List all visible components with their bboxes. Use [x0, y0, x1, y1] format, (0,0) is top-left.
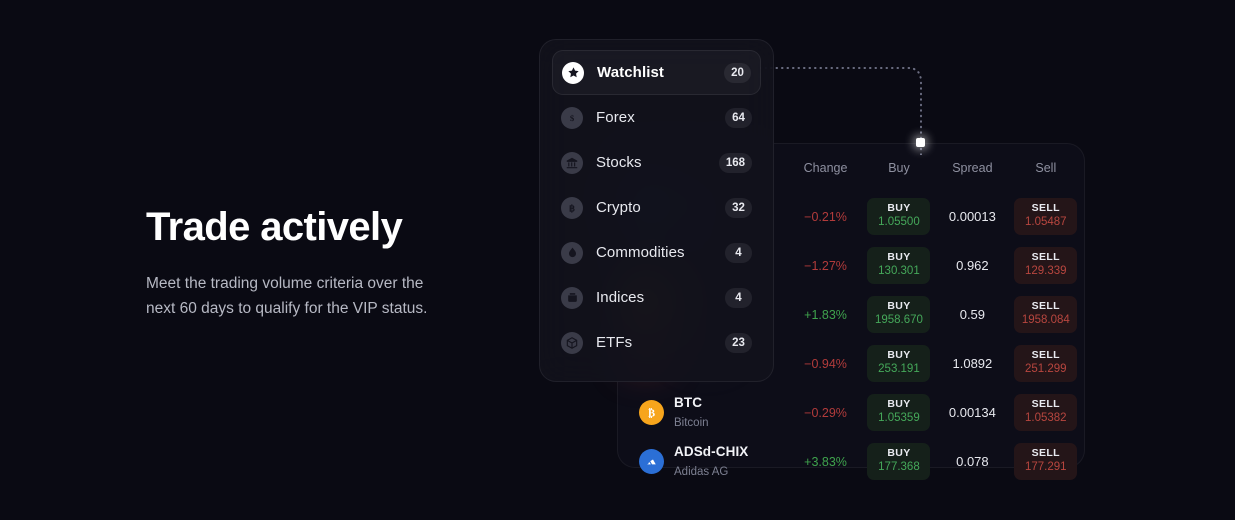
buy-button[interactable]: BUY253.191 [867, 345, 930, 382]
sidebar-item-etfs[interactable]: ETFs23 [552, 320, 761, 365]
sidebar-item-count: 168 [719, 153, 752, 173]
dollar-icon: $ [561, 107, 583, 129]
sell-price: 1958.084 [1014, 314, 1077, 327]
sidebar-item-label: Crypto [596, 199, 725, 216]
buy-cell[interactable]: BUY177.368 [861, 443, 937, 480]
sell-button[interactable]: SELL129.339 [1014, 247, 1077, 284]
change-value: +1.83% [790, 308, 860, 322]
sell-label: SELL [1014, 448, 1077, 460]
bank-icon [561, 152, 583, 174]
sidebar-item-count: 32 [725, 198, 752, 218]
buy-label: BUY [867, 350, 930, 362]
column-header-buy: Buy [861, 161, 937, 175]
buy-label: BUY [867, 399, 930, 411]
sidebar-item-label: Stocks [596, 154, 719, 171]
column-header-sell: Sell [1008, 161, 1084, 175]
buy-button[interactable]: BUY1958.670 [867, 296, 930, 333]
page-title: Trade actively [146, 205, 476, 249]
buy-label: BUY [867, 448, 930, 460]
buy-button[interactable]: BUY1.05500 [867, 198, 930, 235]
screenshot-root: Trade actively Meet the trading volume c… [0, 0, 1235, 520]
sell-price: 251.299 [1014, 363, 1077, 376]
buy-price: 1.05359 [867, 412, 930, 425]
spread-value: 0.962 [937, 258, 1007, 273]
buy-label: BUY [867, 252, 930, 264]
table-row[interactable]: ADSd-CHIXAdidas AG+3.83%BUY177.3680.078S… [618, 437, 1084, 486]
instrument-cell: ₿BTCBitcoin [618, 394, 790, 432]
sidebar-item-count: 23 [725, 333, 752, 353]
sell-cell[interactable]: SELL251.299 [1008, 345, 1084, 382]
sidebar-item-label: Indices [596, 289, 725, 306]
change-value: −0.21% [790, 210, 860, 224]
bitcoin-icon: ฿ [561, 197, 583, 219]
sell-price: 177.291 [1014, 461, 1077, 474]
connector-endpoint-dot [916, 138, 925, 147]
sidebar-item-label: Forex [596, 109, 725, 126]
instrument-symbol: BTC [674, 395, 702, 410]
spread-value: 1.0892 [937, 356, 1007, 371]
sell-cell[interactable]: SELL177.291 [1008, 443, 1084, 480]
column-header-change: Change [790, 161, 860, 175]
droplet-icon [561, 242, 583, 264]
sell-button[interactable]: SELL1958.084 [1014, 296, 1077, 333]
sidebar-item-watchlist[interactable]: Watchlist20 [552, 50, 761, 95]
spread-value: 0.59 [937, 307, 1007, 322]
buy-cell[interactable]: BUY1.05359 [861, 394, 937, 431]
svg-text:$: $ [570, 113, 575, 123]
sell-button[interactable]: SELL251.299 [1014, 345, 1077, 382]
sidebar-item-count: 64 [725, 108, 752, 128]
spread-value: 0.00134 [937, 405, 1007, 420]
table-row[interactable]: ₿BTCBitcoin−0.29%BUY1.053590.00134SELL1.… [618, 388, 1084, 437]
box-icon [561, 287, 583, 309]
sidebar-item-label: ETFs [596, 334, 725, 351]
adidas-logo-icon [639, 449, 664, 474]
sidebar-item-count: 4 [725, 243, 752, 263]
sidebar-item-label: Watchlist [597, 64, 724, 81]
buy-price: 177.368 [867, 461, 930, 474]
sell-cell[interactable]: SELL1958.084 [1008, 296, 1084, 333]
column-header-spread: Spread [937, 161, 1007, 175]
category-sidebar: Watchlist20$Forex64Stocks168฿Crypto32Com… [539, 39, 774, 382]
sidebar-item-forex[interactable]: $Forex64 [552, 95, 761, 140]
buy-price: 130.301 [867, 265, 930, 278]
sell-cell[interactable]: SELL1.05382 [1008, 394, 1084, 431]
cube-icon [561, 332, 583, 354]
change-value: −0.29% [790, 406, 860, 420]
sell-button[interactable]: SELL1.05382 [1014, 394, 1077, 431]
svg-text:₿: ₿ [648, 407, 655, 419]
instrument-cell: ADSd-CHIXAdidas AG [618, 443, 790, 481]
sidebar-item-indices[interactable]: Indices4 [552, 275, 761, 320]
sell-cell[interactable]: SELL129.339 [1008, 247, 1084, 284]
sell-label: SELL [1014, 252, 1077, 264]
instrument-name: Adidas AG [674, 466, 728, 478]
change-value: −0.94% [790, 357, 860, 371]
sidebar-item-commodities[interactable]: Commodities4 [552, 230, 761, 275]
sell-label: SELL [1014, 203, 1077, 215]
sidebar-item-count: 20 [724, 63, 751, 83]
buy-price: 1958.670 [867, 314, 930, 327]
buy-button[interactable]: BUY177.368 [867, 443, 930, 480]
buy-cell[interactable]: BUY1.05500 [861, 198, 937, 235]
sell-button[interactable]: SELL177.291 [1014, 443, 1077, 480]
buy-button[interactable]: BUY130.301 [867, 247, 930, 284]
change-value: −1.27% [790, 259, 860, 273]
sell-label: SELL [1014, 350, 1077, 362]
buy-cell[interactable]: BUY130.301 [861, 247, 937, 284]
star-icon [562, 62, 584, 84]
instrument-symbol: ADSd-CHIX [674, 444, 748, 459]
sell-label: SELL [1014, 399, 1077, 411]
sell-cell[interactable]: SELL1.05487 [1008, 198, 1084, 235]
spread-value: 0.00013 [937, 209, 1007, 224]
sell-button[interactable]: SELL1.05487 [1014, 198, 1077, 235]
sidebar-item-stocks[interactable]: Stocks168 [552, 140, 761, 185]
buy-cell[interactable]: BUY253.191 [861, 345, 937, 382]
buy-price: 1.05500 [867, 216, 930, 229]
page-description: Meet the trading volume criteria over th… [146, 271, 454, 321]
buy-price: 253.191 [867, 363, 930, 376]
sell-price: 129.339 [1014, 265, 1077, 278]
sell-price: 1.05487 [1014, 216, 1077, 229]
instrument-name: Bitcoin [674, 417, 709, 429]
change-value: +3.83% [790, 455, 860, 469]
buy-cell[interactable]: BUY1958.670 [861, 296, 937, 333]
buy-label: BUY [867, 203, 930, 215]
marketing-copy: Trade actively Meet the trading volume c… [146, 205, 476, 321]
sell-label: SELL [1014, 301, 1077, 313]
sidebar-item-label: Commodities [596, 244, 725, 261]
sell-price: 1.05382 [1014, 412, 1077, 425]
bitcoin-coin-icon: ₿ [639, 400, 664, 425]
sidebar-item-count: 4 [725, 288, 752, 308]
svg-text:฿: ฿ [569, 203, 575, 214]
spread-value: 0.078 [937, 454, 1007, 469]
sidebar-item-crypto[interactable]: ฿Crypto32 [552, 185, 761, 230]
buy-label: BUY [867, 301, 930, 313]
buy-button[interactable]: BUY1.05359 [867, 394, 930, 431]
